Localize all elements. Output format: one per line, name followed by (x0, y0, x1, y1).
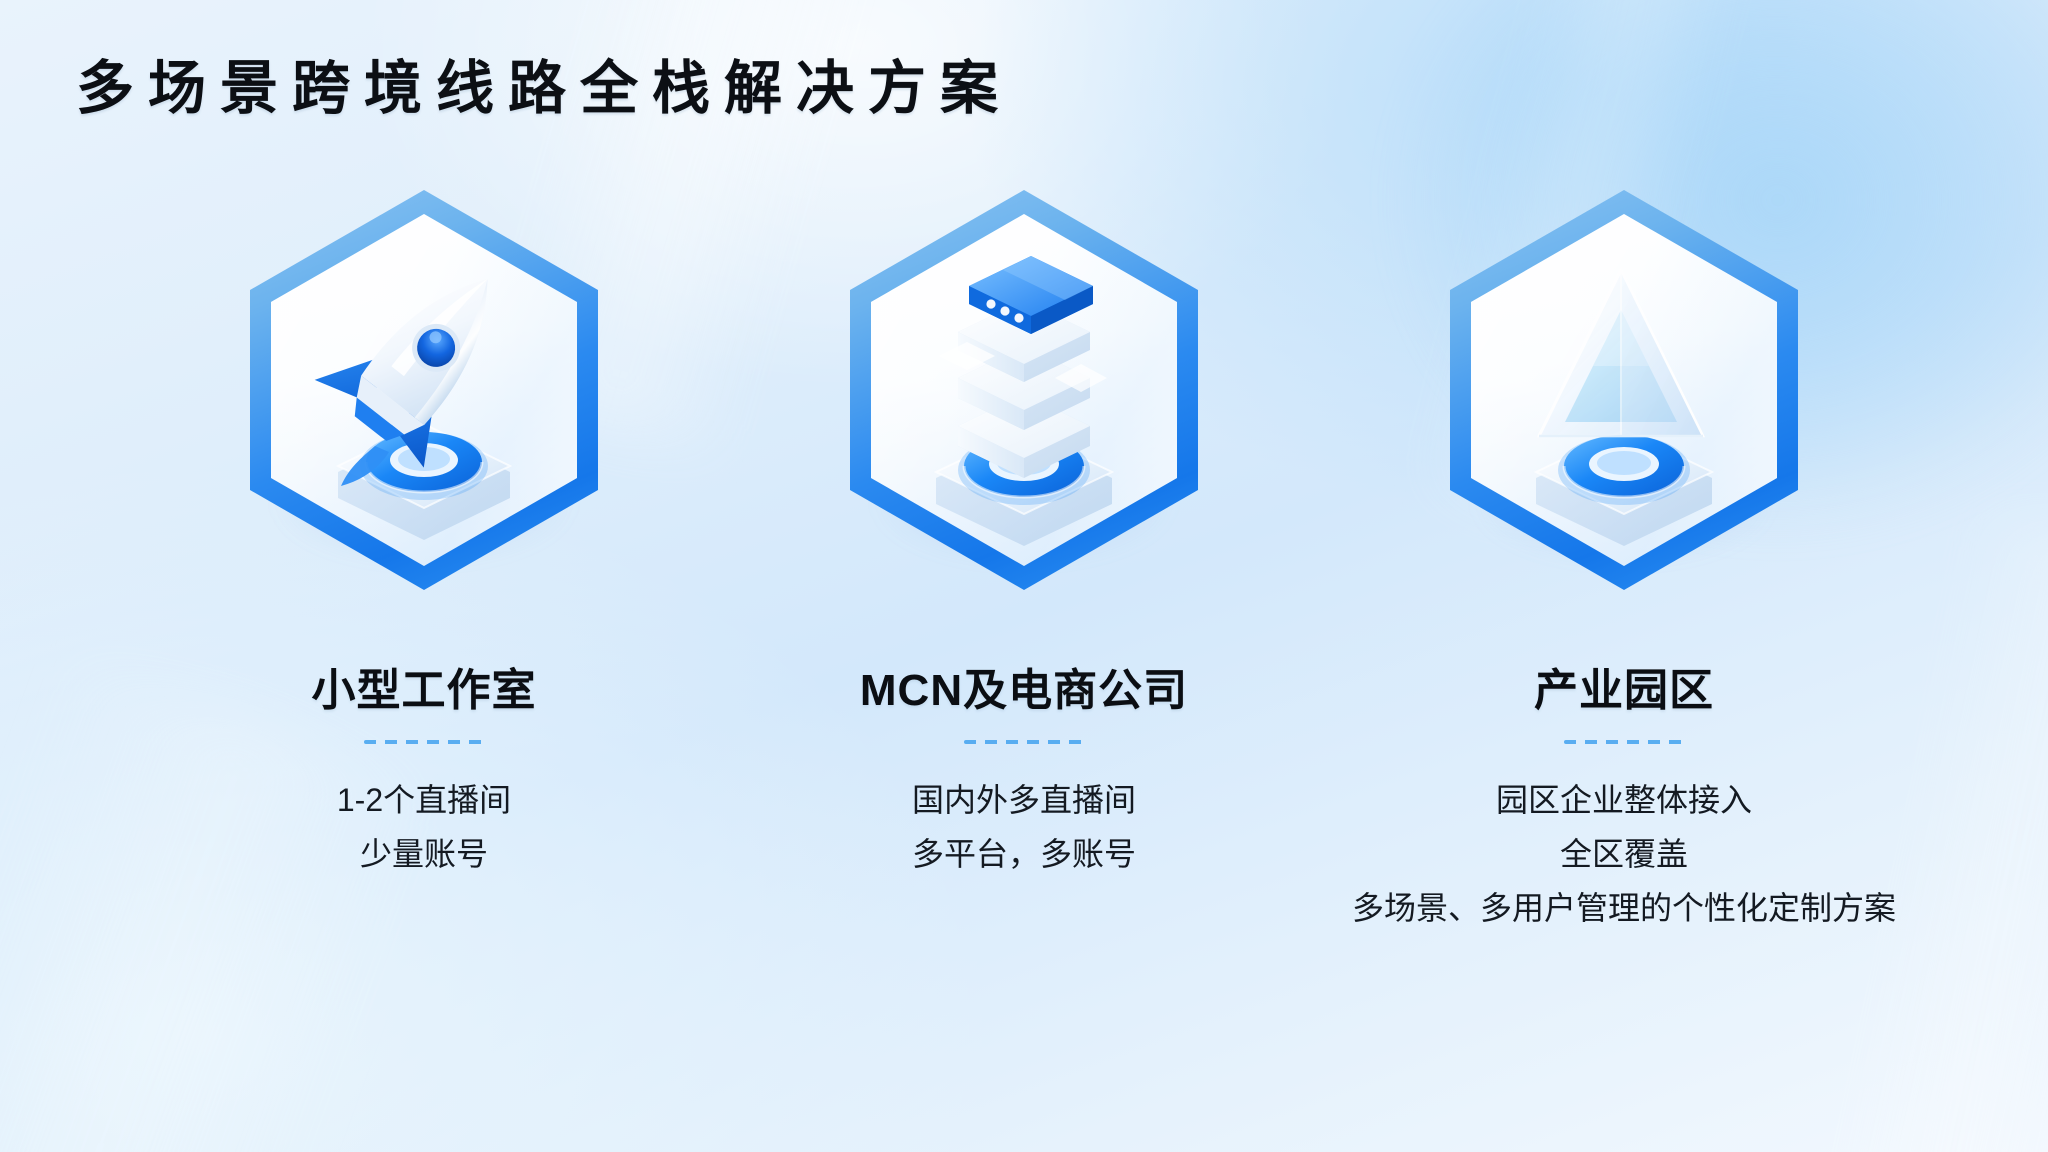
description-line: 多场景、多用户管理的个性化定制方案 (1352, 882, 1896, 936)
description-line: 国内外多直播间 (912, 774, 1136, 828)
card-title: MCN及电商公司 (860, 654, 1188, 718)
card-description: 园区企业整体接入 全区覆盖 多场景、多用户管理的个性化定制方案 (1352, 774, 1896, 935)
hexagon-badge (824, 170, 1224, 610)
hexagon-badge (224, 170, 624, 610)
description-line: 多平台，多账号 (912, 828, 1136, 882)
card-small-studio[interactable]: 小型工作室 1-2个直播间 少量账号 (124, 170, 724, 882)
description-line: 少量账号 (337, 828, 511, 882)
slide-canvas: 多场景跨境线路全栈解决方案 (0, 0, 2048, 1152)
card-list: 小型工作室 1-2个直播间 少量账号 (0, 170, 2048, 935)
card-mcn-ecommerce[interactable]: MCN及电商公司 国内外多直播间 多平台，多账号 (724, 170, 1324, 882)
dashed-divider (364, 740, 484, 744)
card-title: 产业园区 (1534, 654, 1714, 718)
dashed-divider (964, 740, 1084, 744)
server-stack-icon (871, 214, 1177, 566)
card-title: 小型工作室 (312, 654, 537, 718)
pyramid-icon (1471, 214, 1777, 566)
description-line: 全区覆盖 (1352, 828, 1896, 882)
description-line: 1-2个直播间 (337, 774, 511, 828)
card-industrial-park[interactable]: 产业园区 园区企业整体接入 全区覆盖 多场景、多用户管理的个性化定制方案 (1324, 170, 1924, 935)
dashed-divider (1564, 740, 1684, 744)
card-description: 国内外多直播间 多平台，多账号 (912, 774, 1136, 882)
page-title: 多场景跨境线路全栈解决方案 (76, 56, 1012, 123)
card-description: 1-2个直播间 少量账号 (337, 774, 511, 882)
description-line: 园区企业整体接入 (1352, 774, 1896, 828)
rocket-icon (271, 214, 577, 566)
hexagon-badge (1424, 170, 1824, 610)
